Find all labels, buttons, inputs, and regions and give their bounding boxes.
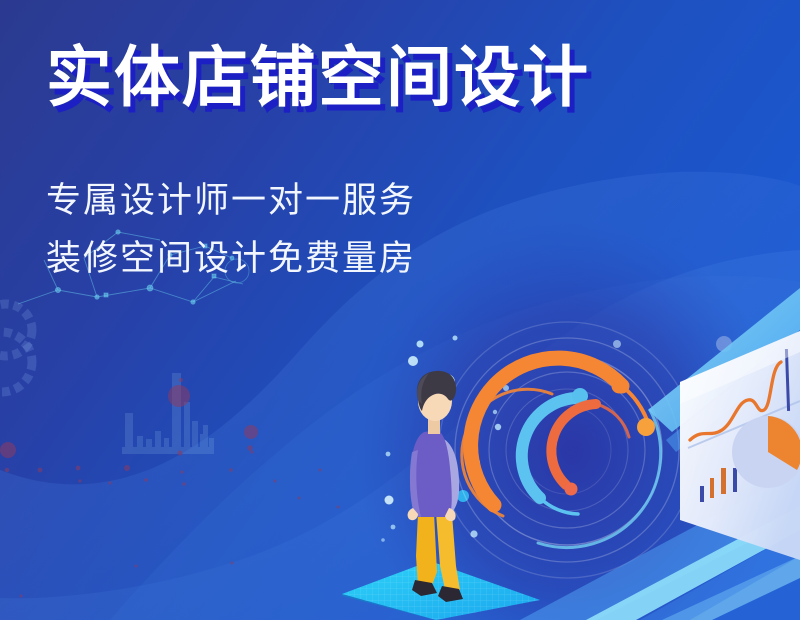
page-title: 实体店铺空间设计 [46,42,590,113]
text-block: 实体店铺空间设计 专属设计师一对一服务 装修空间设计免费量房 [0,0,800,620]
subtitle-line-2: 装修空间设计免费量房 [46,240,416,279]
promo-banner: 实体店铺空间设计 专属设计师一对一服务 装修空间设计免费量房 [0,0,800,620]
subtitle-line-1: 专属设计师一对一服务 [46,182,416,221]
